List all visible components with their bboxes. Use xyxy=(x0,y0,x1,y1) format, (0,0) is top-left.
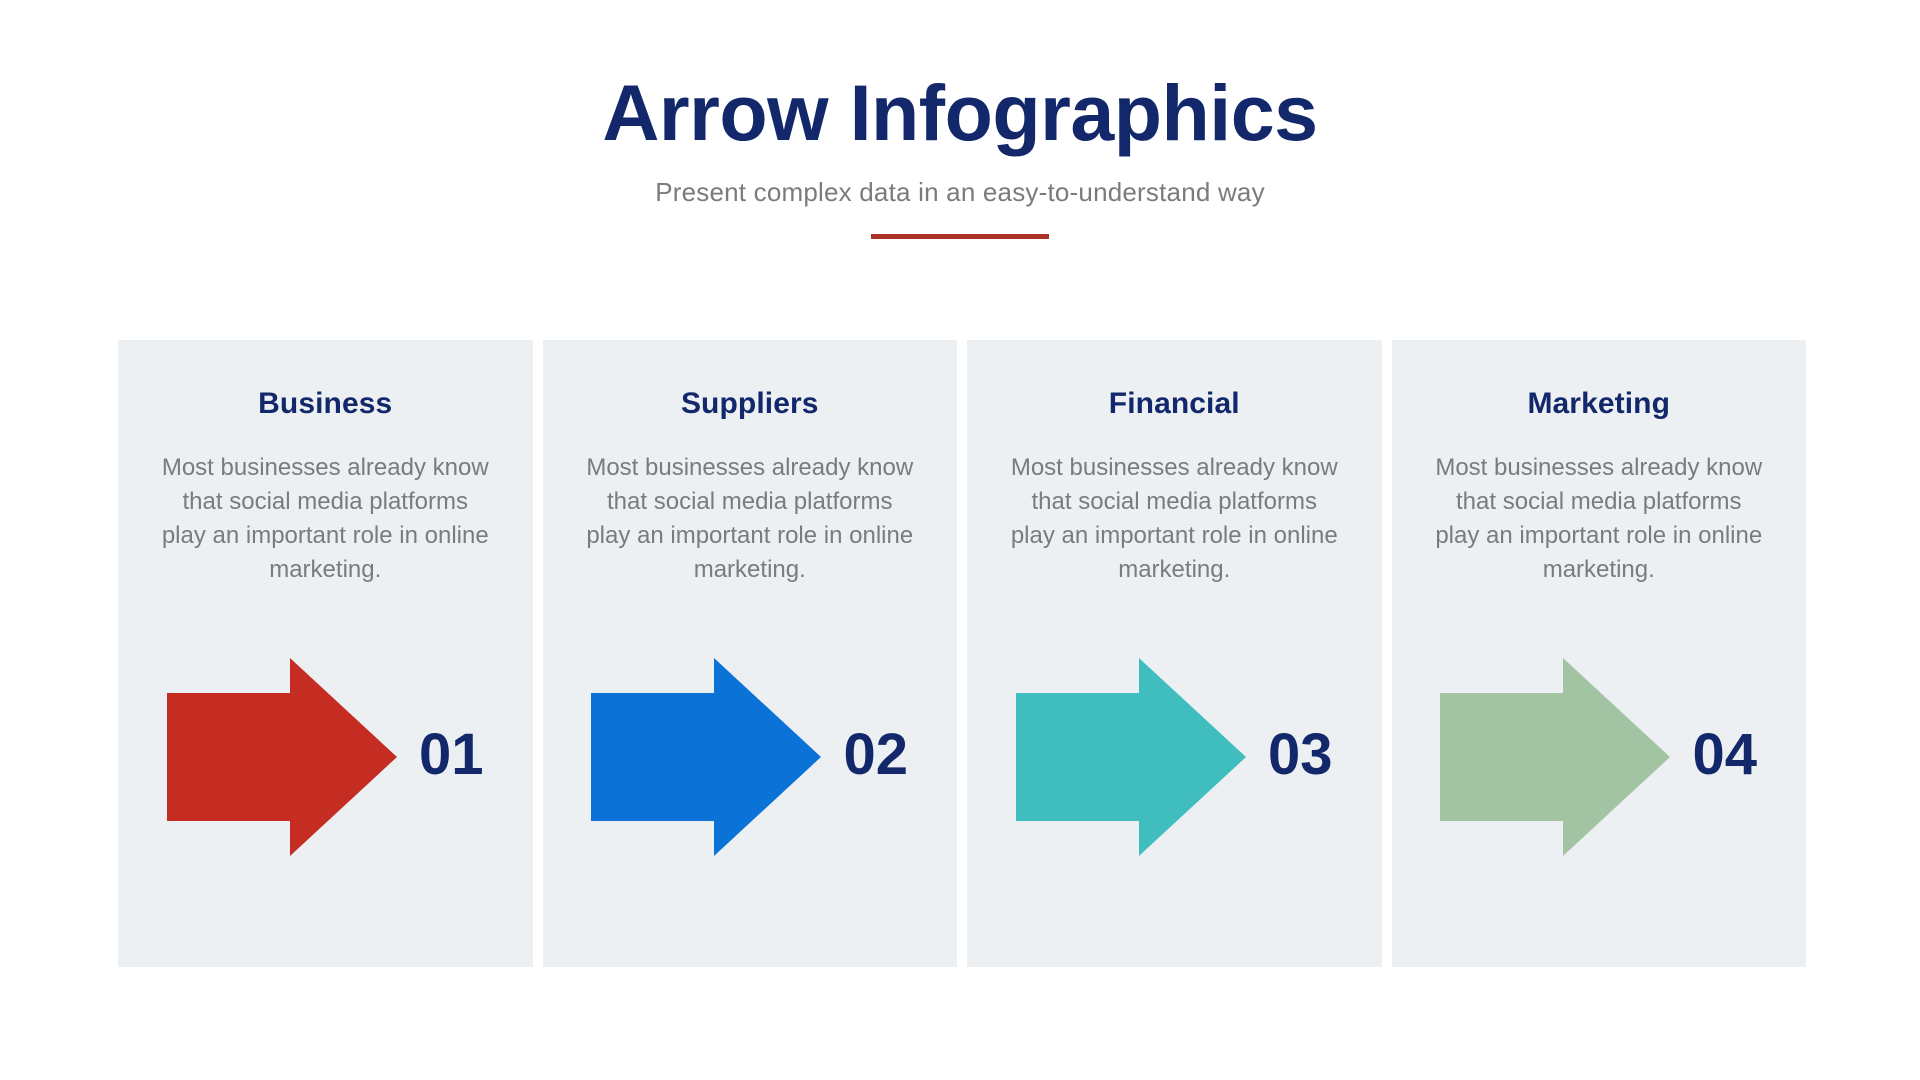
accent-divider xyxy=(871,234,1049,239)
card-title: Suppliers xyxy=(681,387,819,421)
page-subtitle: Present complex data in an easy-to-under… xyxy=(0,177,1920,208)
step-number: 02 xyxy=(843,726,908,788)
arrow-right-shape xyxy=(167,658,397,856)
arrow-right-shape xyxy=(1440,658,1670,856)
arrow-right-icon xyxy=(1016,658,1246,856)
card-row: Business Most businesses already know th… xyxy=(118,340,1806,967)
arrow-number-row: 04 xyxy=(1392,657,1807,857)
card-suppliers[interactable]: Suppliers Most businesses already know t… xyxy=(543,340,958,967)
arrow-number-row: 01 xyxy=(118,657,533,857)
header: Arrow Infographics Present complex data … xyxy=(0,72,1920,239)
divider-wrapper xyxy=(0,234,1920,239)
card-marketing[interactable]: Marketing Most businesses already know t… xyxy=(1392,340,1807,967)
page-title: Arrow Infographics xyxy=(0,72,1920,155)
step-number: 01 xyxy=(419,726,484,788)
card-body-text: Most businesses already know that social… xyxy=(1009,451,1339,587)
arrow-right-icon xyxy=(167,658,397,856)
arrow-right-icon xyxy=(591,658,821,856)
arrow-right-shape xyxy=(1016,658,1246,856)
arrow-number-row: 03 xyxy=(967,657,1382,857)
step-number: 03 xyxy=(1268,726,1333,788)
card-body-text: Most businesses already know that social… xyxy=(160,451,490,587)
card-body-text: Most businesses already know that social… xyxy=(585,451,915,587)
arrow-number-row: 02 xyxy=(543,657,958,857)
card-body-text: Most businesses already know that social… xyxy=(1434,451,1764,587)
card-title: Marketing xyxy=(1527,387,1670,421)
slide-canvas: Arrow Infographics Present complex data … xyxy=(0,0,1920,1080)
card-title: Financial xyxy=(1109,387,1240,421)
card-financial[interactable]: Financial Most businesses already know t… xyxy=(967,340,1382,967)
arrow-right-shape xyxy=(591,658,821,856)
card-business[interactable]: Business Most businesses already know th… xyxy=(118,340,533,967)
step-number: 04 xyxy=(1692,726,1757,788)
card-title: Business xyxy=(258,387,392,421)
arrow-right-icon xyxy=(1440,658,1670,856)
